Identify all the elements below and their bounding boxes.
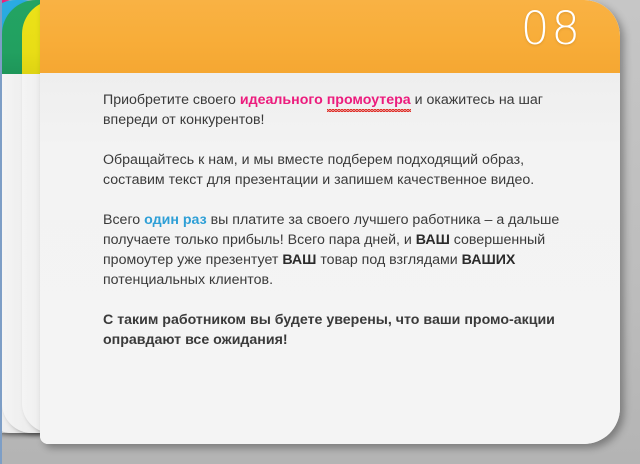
left-edge-line [0,0,2,464]
p3-highlight: один раз [144,212,207,228]
p1-highlight-2-misspelled: промоутера [327,90,411,110]
p3-bold-2: ВАШ [282,252,316,268]
p3-part5: потенциальных клиентов. [103,272,273,288]
slide-text-content: Приобретите своего идеального промоутера… [103,90,584,350]
p3-bold-3: ВАШИХ [462,252,516,268]
slide-card: 08 Приобретите своего идеального промоут… [40,0,620,444]
paragraph-4: С таким работником вы будете уверены, чт… [103,310,584,350]
p3-part4: товар под взглядами [316,252,461,268]
slide-header-bar: 08 [40,0,620,73]
slide-number: 08 [521,6,582,51]
p3-bold-1: ВАШ [416,232,450,248]
p1-highlight-1: идеального [240,92,327,108]
paragraph-1: Приобретите своего идеального промоутера… [103,90,584,130]
p3-part1: Всего [103,212,144,228]
paragraph-2: Обращайтесь к нам, и мы вместе подберем … [103,150,584,190]
slide-body: Приобретите своего идеального промоутера… [40,73,620,444]
p1-part1: Приобретите своего [103,92,240,108]
paragraph-3: Всего один раз вы платите за своего лучш… [103,210,584,290]
slide-canvas: 08 Приобретите своего идеального промоут… [0,0,640,464]
